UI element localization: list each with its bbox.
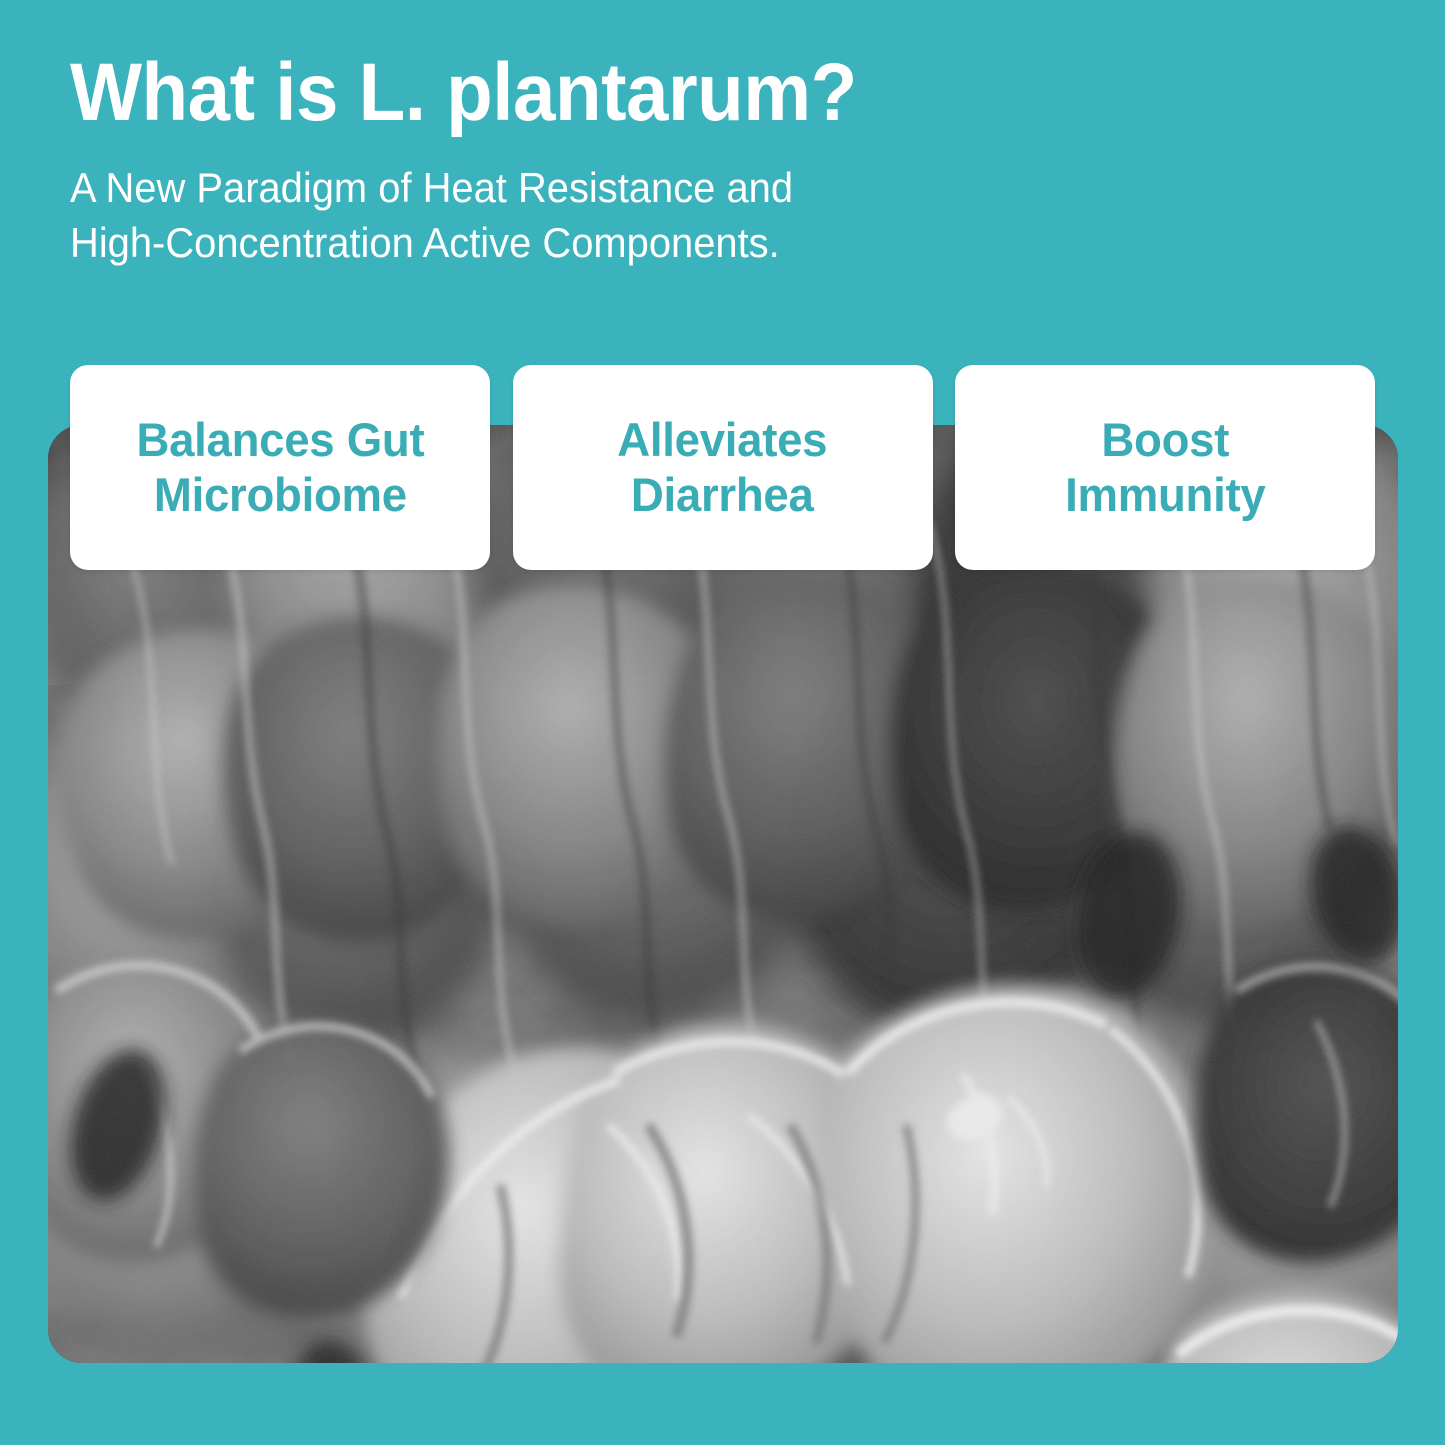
feature-card-alleviates-diarrhea[interactable]: Alleviates Diarrhea xyxy=(513,365,933,570)
page-subtitle: A New Paradigm of Heat Resistance and Hi… xyxy=(70,134,1324,271)
feature-card-label: Balances Gut Microbiome xyxy=(136,413,424,522)
feature-card-label: Alleviates Diarrhea xyxy=(618,413,828,522)
page-title: What is L. plantarum? xyxy=(70,52,1298,134)
feature-card-label: Boost Immunity xyxy=(1065,413,1265,522)
feature-card-balances-gut-microbiome[interactable]: Balances Gut Microbiome xyxy=(70,365,490,570)
feature-card-row: Balances Gut Microbiome Alleviates Diarr… xyxy=(70,365,1375,570)
header: What is L. plantarum? A New Paradigm of … xyxy=(70,52,1390,271)
infographic-root: What is L. plantarum? A New Paradigm of … xyxy=(0,0,1445,1445)
feature-card-boost-immunity[interactable]: Boost Immunity xyxy=(955,365,1375,570)
